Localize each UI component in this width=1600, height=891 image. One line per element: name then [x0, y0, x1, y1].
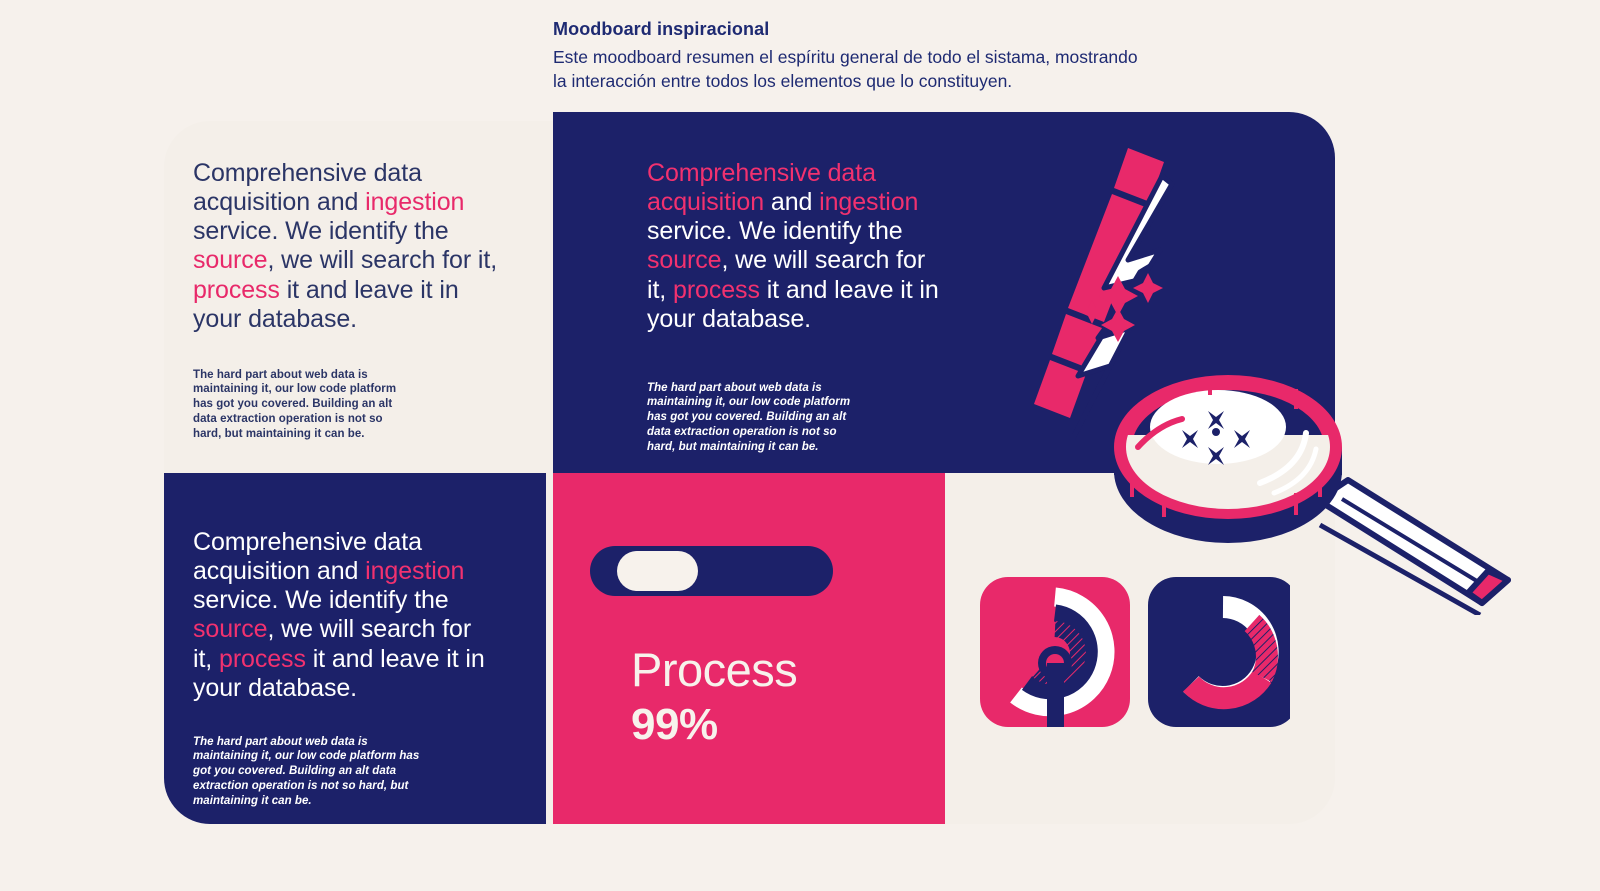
bottom-left-text-block: Comprehensive data acquisition and inges…	[193, 528, 493, 808]
top-left-fine-print: The hard part about web data is maintain…	[193, 368, 408, 442]
lede-source: source	[193, 615, 267, 643]
lede-process: process	[673, 276, 760, 304]
process-value: 99%	[631, 703, 718, 747]
top-right-lede: Comprehensive data acquisition and inges…	[647, 159, 947, 334]
lede-part-3: service. We identify the	[193, 217, 449, 245]
lede-part-1: Comprehensive data	[193, 159, 422, 187]
page-subtitle: Este moodboard resumen el espíritu gener…	[553, 45, 1313, 93]
lede-process: process	[193, 276, 280, 304]
magnifier-handle	[1318, 480, 1508, 615]
page-subtitle-line1: Este moodboard resumen el espíritu gener…	[553, 47, 1138, 67]
header: Moodboard inspiracional Este moodboard r…	[553, 18, 1313, 93]
lede-part-6: your database.	[647, 305, 811, 333]
lede-source: source	[647, 246, 721, 274]
top-right-text-block: Comprehensive data acquisition and inges…	[647, 159, 947, 454]
bottom-left-fine-print: The hard part about web data is maintain…	[193, 735, 425, 809]
top-left-text-block: Comprehensive data acquisition and inges…	[193, 159, 505, 441]
lede-part-2: acquisition	[647, 188, 764, 216]
lede-part-5: it and leave it in	[767, 276, 939, 304]
lede-ingestion: ingestion	[365, 188, 464, 216]
lede-source: source	[193, 246, 267, 274]
lede-ingestion: ingestion	[819, 188, 918, 216]
lede-and: and	[317, 557, 358, 585]
moodboard-canvas: Moodboard inspiracional Este moodboard r…	[0, 0, 1600, 891]
lede-part-3: service. We identify the	[647, 217, 903, 245]
process-label: Process	[631, 646, 797, 693]
lede-part-2: acquisition	[193, 188, 310, 216]
top-left-lede: Comprehensive data acquisition and inges…	[193, 159, 505, 334]
process-toggle[interactable]	[590, 546, 833, 596]
page-title: Moodboard inspiracional	[553, 18, 1313, 41]
lede-part-5: it and leave it in	[313, 645, 485, 673]
lede-part-1: Comprehensive data	[647, 159, 876, 187]
lede-part-2: acquisition	[193, 557, 310, 585]
lede-part-6: your database.	[193, 674, 357, 702]
lede-part-1: Comprehensive data	[193, 528, 422, 556]
page-subtitle-line2: la interacción entre todos los elementos…	[553, 71, 1012, 91]
bottom-left-lede: Comprehensive data acquisition and inges…	[193, 528, 493, 703]
lede-part-4: , we will search for it,	[267, 246, 497, 274]
lede-and: and	[771, 188, 812, 216]
lede-ingestion: ingestion	[365, 557, 464, 585]
lede-and: and	[317, 188, 358, 216]
top-right-fine-print: The hard part about web data is maintain…	[647, 381, 857, 455]
lede-process: process	[219, 645, 306, 673]
lede-part-6: database.	[248, 305, 357, 333]
lede-part-3: service. We identify the	[193, 586, 449, 614]
toggle-knob[interactable]	[617, 551, 698, 591]
